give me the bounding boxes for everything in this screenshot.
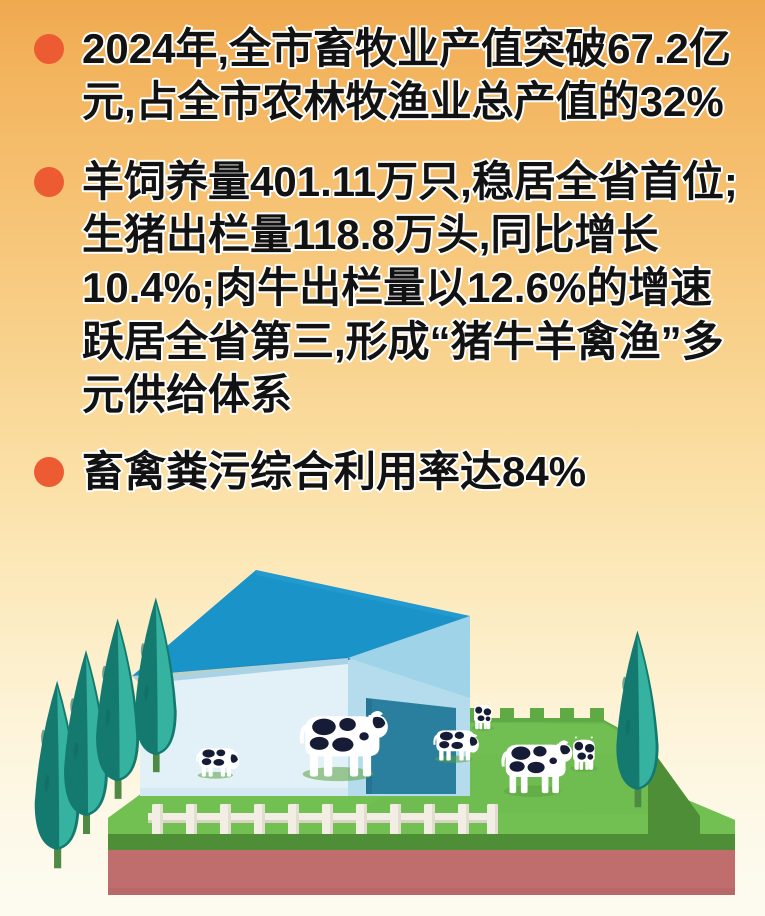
- list-item: 畜禽粪污综合利用率达84%: [34, 445, 747, 498]
- bullet-dot-icon: [34, 167, 64, 197]
- list-item: 2024年,全市畜牧业产值突破67.2亿元,占全市农林牧渔业总产值的32%: [34, 22, 747, 129]
- barn-building: [132, 570, 470, 796]
- livestock-farm-illustration: [0, 548, 765, 916]
- bullet-dot-icon: [34, 457, 64, 487]
- cow-front-small: [472, 702, 494, 730]
- list-item: 羊饲养量401.11万只,稳居全省首位;生猪出栏量118.8万头,同比增长10.…: [34, 155, 747, 422]
- bullet-list: 2024年,全市畜牧业产值突破67.2亿元,占全市农林牧渔业总产值的32% 羊饲…: [0, 0, 765, 499]
- bullet-text-1: 2024年,全市畜牧业产值突破67.2亿元,占全市农林牧渔业总产值的32%: [82, 22, 747, 129]
- bullet-text-2: 羊饲养量401.11万只,稳居全省首位;生猪出栏量118.8万头,同比增长10.…: [82, 155, 747, 422]
- bullet-dot-icon: [34, 34, 64, 64]
- bullet-text-3: 畜禽粪污综合利用率达84%: [82, 445, 747, 498]
- ground-front-faces: [108, 834, 735, 895]
- poster-canvas: 2024年,全市畜牧业产值突破67.2亿元,占全市农林牧渔业总产值的32% 羊饲…: [0, 0, 765, 916]
